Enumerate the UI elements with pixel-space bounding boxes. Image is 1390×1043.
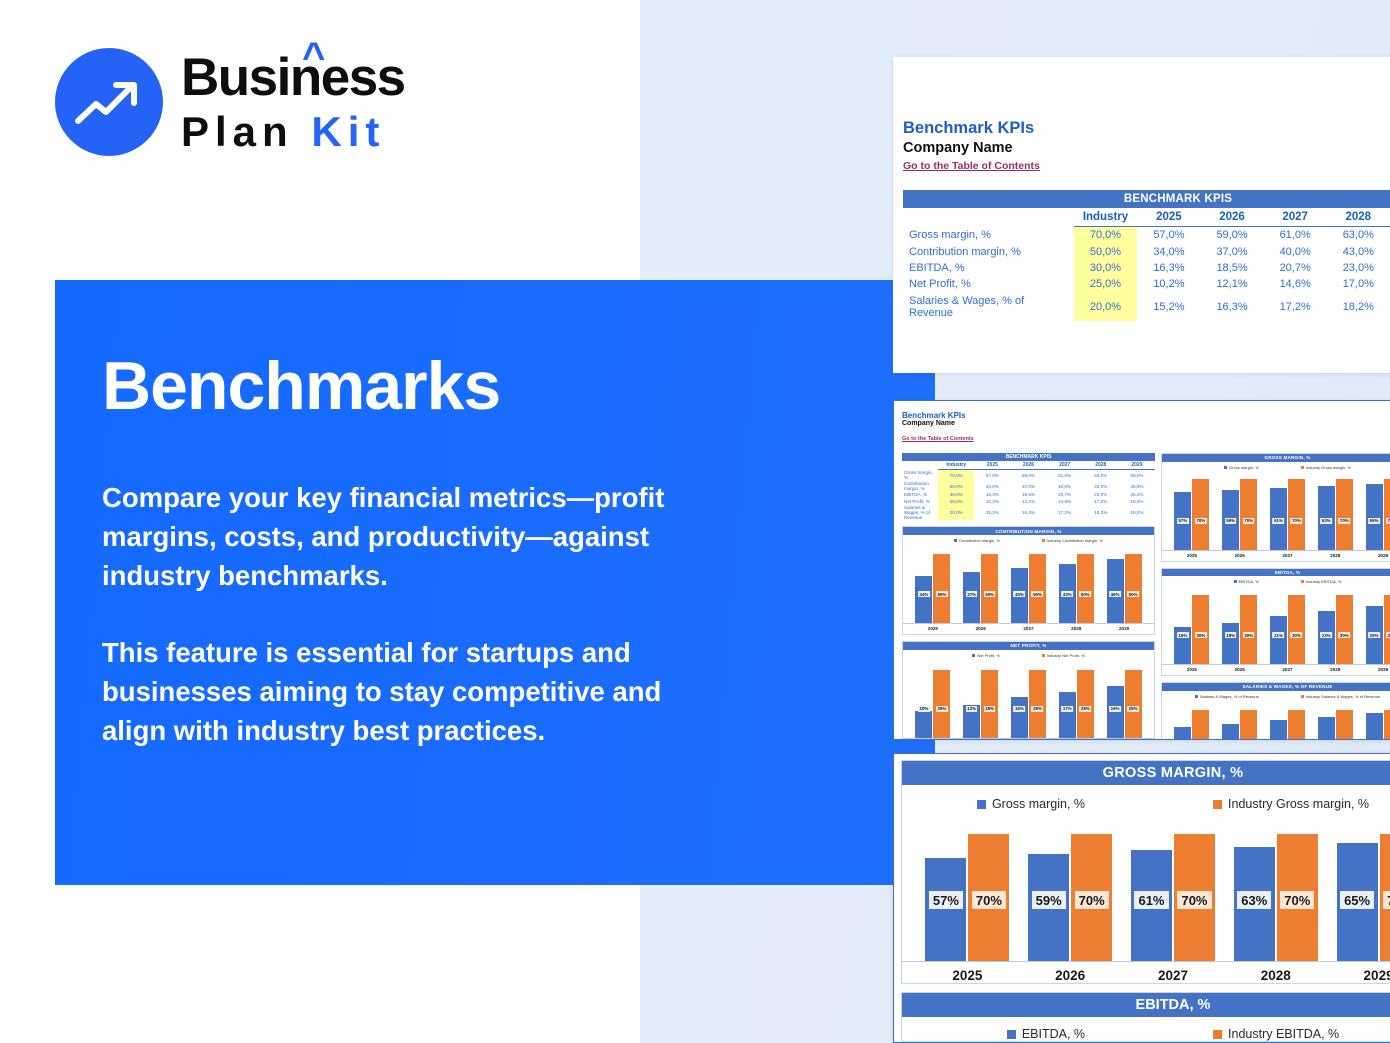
chart-bar-group: 37%50% (960, 554, 1002, 623)
brand-word-business: Business (181, 48, 405, 107)
chart-bar: 10% (915, 711, 932, 738)
table-cell: 18,2% (1327, 293, 1390, 321)
chart-bar-value-label: 25% (1079, 706, 1091, 712)
legend-label: EBITDA, % (1022, 1027, 1085, 1041)
chart-legend: EBITDA, %Industry EBITDA, % (902, 1027, 1390, 1041)
legend-item: Industry EBITDA, % (1213, 1027, 1339, 1041)
table-row: Salaries & Wages, % of Revenue20,0%15,2%… (902, 504, 1155, 520)
chart-bar: 20% (1336, 710, 1353, 740)
chart-bar-group: 19%25% (1103, 670, 1145, 738)
legend-label: Industry Salaries & Wages, % of Revenue (1306, 694, 1380, 699)
chart-bar-group: 65%70% (1362, 479, 1390, 550)
chart-bar-group: 16%20% (1219, 710, 1261, 740)
table-row-label: Gross margin, % (902, 470, 938, 481)
chart-bar: 37% (963, 572, 980, 623)
legend-swatch-icon (1007, 1030, 1016, 1039)
legend-item: Gross margin, % (1224, 465, 1259, 470)
table-cell-industry: 50,0% (938, 481, 974, 492)
table-cell: 57,0% (974, 470, 1010, 481)
table-cell: 61,0% (1047, 470, 1083, 481)
chart-gross-margin: GROSS MARGIN, %Gross margin, %Industry G… (901, 760, 1390, 984)
chart-title: GROSS MARGIN, % (1162, 454, 1390, 462)
chart-bar: 70% (1071, 834, 1112, 961)
chart-bar-group: 16%30% (1171, 595, 1213, 664)
table-column-header: 2026 (1010, 461, 1046, 470)
chart-bar-value-label: 63% (1237, 891, 1271, 909)
chart-bar: 30% (1240, 595, 1257, 664)
chart-bar-value-label: 25% (936, 706, 948, 712)
table-cell: 59,0% (1200, 227, 1263, 244)
chart-bar-value-label: 50% (984, 591, 996, 597)
chart-bar: 57% (925, 858, 966, 961)
chart-x-axis: 20252026202720282029 (902, 961, 1390, 983)
table-of-contents-link[interactable]: Go to the Table of Contents (903, 160, 1040, 172)
chart-contribution-margin: CONTRIBUTION MARGIN, %Contribution margi… (902, 526, 1155, 635)
chart-plot-area: 57%70%59%70%61%70%63%70%65%70% (902, 811, 1390, 961)
chart-bar: 12% (963, 705, 980, 738)
mini-benchmark-kpi-table: BENCHMARK KPISIndustry202520262027202820… (902, 453, 1155, 520)
chart-salaries-wages: SALARIES & WAGES, % OF REVENUESalaries &… (1161, 682, 1390, 740)
table-cell: 57,0% (1137, 227, 1200, 244)
legend-item: Industry Salaries & Wages, % of Revenue (1301, 694, 1380, 699)
legend-label: Industry EBITDA, % (1306, 579, 1342, 584)
chart-bar-value-label: 70% (1338, 518, 1350, 524)
table-cell: 16,3% (1137, 260, 1200, 276)
chart-bar-value-label: 50% (936, 591, 948, 597)
table-band-label: BENCHMARK KPIS (903, 190, 1390, 208)
table-row: Net Profit, %25,0%10,2%12,1%14,6%17,0%19… (903, 276, 1390, 292)
x-axis-tick-label: 2025 (1171, 667, 1213, 672)
chart-bar: 70% (1384, 479, 1390, 550)
table-row-label: Salaries & Wages, % of Revenue (903, 293, 1074, 321)
chart-bar-value-label: 43% (1061, 591, 1073, 597)
chart-bar-value-label: 50% (1079, 591, 1091, 597)
table-cell: 18,2% (1083, 504, 1119, 520)
legend-swatch-icon (1224, 466, 1227, 469)
legend-swatch-icon (1042, 539, 1045, 542)
x-axis-tick-label: 2027 (1007, 626, 1049, 631)
legend-label: Industry Net Profit, % (1047, 653, 1085, 658)
chart-bar-group: 15%25% (1007, 670, 1049, 738)
table-cell: 18,5% (1200, 260, 1263, 276)
chart-bar: 18% (1222, 623, 1239, 664)
x-axis-tick-label: 2026 (1219, 667, 1261, 672)
chart-bar-value-label: 61% (1134, 891, 1168, 909)
table-cell-industry: 50,0% (1074, 243, 1138, 259)
chart-bar: 30% (1336, 595, 1353, 664)
legend-label: Net Profit, % (977, 653, 999, 658)
chart-bar: 50% (981, 554, 998, 623)
brand-name-line2: Plan Kit (181, 111, 405, 153)
chart-bar-value-label: 65% (1340, 891, 1374, 909)
legend-label: Gross margin, % (1229, 465, 1259, 470)
x-axis-tick-label: 2028 (1314, 667, 1356, 672)
chart-bar: 25% (1077, 670, 1094, 738)
chart-bar-group: 23%30% (1314, 595, 1356, 664)
chart-bar: 50% (1125, 554, 1142, 623)
table-row: Contribution margin, %50,0%34,0%37,0%40,… (902, 481, 1155, 492)
chart-bar-value-label: 16% (1177, 632, 1189, 638)
table-cell-industry: 30,0% (1074, 260, 1138, 276)
chart-bar-value-label: 34% (918, 591, 930, 597)
chart-bar-group: 43%50% (1055, 554, 1097, 623)
chart-bar-group: 15%20% (1171, 710, 1213, 740)
table-row: Contribution margin, %50,0%34,0%37,0%40,… (903, 243, 1390, 259)
chart-bar: 46% (1107, 559, 1124, 623)
chart-bar: 23% (1318, 611, 1335, 664)
table-column-header: 2027 (1264, 208, 1327, 227)
chart-title: CONTRIBUTION MARGIN, % (903, 527, 1154, 535)
legend-label: EBITDA, % (1239, 579, 1259, 584)
chart-plot-area: 10%25%12%25%15%25%17%25%19%25% (903, 658, 1154, 738)
chart-bar-value-label: 70% (1383, 891, 1390, 909)
chart-bar: 16% (1222, 724, 1239, 740)
mini-sheet-company-name: Company Name (902, 420, 1390, 427)
chart-bar-value-label: 37% (966, 591, 978, 597)
legend-swatch-icon (1301, 466, 1304, 469)
chart-bar-group: 61%70% (1266, 479, 1308, 550)
chart-bar: 17% (1059, 692, 1076, 738)
chart-bar-value-label: 30% (1291, 632, 1303, 638)
chart-bar-group: 40%50% (1007, 554, 1049, 623)
table-cell: 34,0% (974, 481, 1010, 492)
chart-bar-group: 17%25% (1055, 670, 1097, 738)
table-row-label: Contribution margin, % (902, 481, 938, 492)
chart-bar-group: 59%70% (1020, 834, 1120, 961)
sheet-company-name: Company Name (903, 140, 1390, 156)
chart-bar: 61% (1270, 488, 1287, 550)
chart-bar-group: 25%30% (1362, 595, 1390, 664)
chart-bar: 20% (1288, 710, 1305, 740)
table-column-header: 2028 (1083, 461, 1119, 470)
chart-bar: 65% (1366, 484, 1383, 550)
table-cell: 43,0% (1083, 481, 1119, 492)
chart-x-axis: 20252026202720282029 (1162, 550, 1390, 561)
chart-bar: 18% (1318, 717, 1335, 740)
chart-bar-value-label: 70% (1243, 518, 1255, 524)
chart-bar-group: 21%30% (1266, 595, 1308, 664)
legend-item: EBITDA, % (1234, 579, 1259, 584)
table-header-row: Industry20252026202720282029 (902, 461, 1155, 470)
chart-bar-value-label: 70% (972, 891, 1006, 909)
brand-word-plan: Plan (181, 108, 311, 155)
chart-title: SALARIES & WAGES, % OF REVENUE (1162, 683, 1390, 691)
chart-bar: 30% (1288, 595, 1305, 664)
chart-bar-group: 17%20% (1266, 710, 1308, 740)
spreadsheet-card-large-chart: GROSS MARGIN, %Gross margin, %Industry G… (893, 753, 1390, 1043)
page-title: Benchmarks (102, 352, 935, 420)
table-column-header: Industry (938, 461, 974, 470)
chart-bar-value-label: 19% (1109, 706, 1121, 712)
chart-bar: 65% (1337, 843, 1378, 961)
chart-bar-group: 10%25% (912, 670, 954, 738)
chart-bar-group: 65%70% (1329, 834, 1390, 961)
table-cell: 59,0% (1010, 470, 1046, 481)
legend-item: Industry Gross margin, % (1213, 797, 1369, 811)
table-cell: 63,0% (1327, 227, 1390, 244)
chart-bar-value-label: 50% (1127, 591, 1139, 597)
chart-gross-margin: GROSS MARGIN, %Gross margin, %Industry G… (1161, 453, 1390, 562)
chart-plot-area: 16%30%18%30%21%30%23%30%25%30% (1162, 584, 1390, 664)
chart-bar: 15% (1011, 697, 1028, 738)
table-column-header: 2027 (1047, 461, 1083, 470)
legend-swatch-icon (1301, 580, 1304, 583)
table-header-row: Industry20252026202720282029 (903, 208, 1390, 227)
chart-bar-value-label: 17% (1061, 706, 1073, 712)
chart-bar-group: 59%70% (1219, 479, 1261, 550)
table-cell: 37,0% (1200, 243, 1263, 259)
chart-bar: 19% (1107, 686, 1124, 738)
chart-bar-value-label: 59% (1225, 518, 1237, 524)
legend-label: Contribution margin, % (959, 538, 1000, 543)
legend-item: EBITDA, % (1007, 1027, 1085, 1041)
chart-bar-value-label: 40% (1014, 591, 1026, 597)
chart-bar-value-label: 50% (1032, 591, 1044, 597)
chart-ebitda: EBITDA, %EBITDA, %Industry EBITDA, %16%3… (1161, 568, 1390, 677)
x-axis-tick-label: 2028 (1314, 553, 1356, 558)
table-cell: 10,2% (1137, 276, 1200, 292)
table-row-label: Net Profit, % (903, 276, 1074, 292)
table-column-header: 2026 (1200, 208, 1263, 227)
legend-item: Gross margin, % (977, 797, 1085, 811)
table-cell: 63,0% (1083, 470, 1119, 481)
table-cell: 15,2% (1137, 293, 1200, 321)
chart-bar: 30% (1192, 595, 1209, 664)
chart-bar: 43% (1059, 564, 1076, 623)
chart-plot-area: 15%20%16%20%17%20%18%20%19%20% (1162, 699, 1390, 740)
chart-bar-value-label: 25% (1127, 706, 1139, 712)
table-column-header: 2025 (974, 461, 1010, 470)
table-cell: 19,0% (1119, 504, 1155, 520)
table-cell-industry: 20,0% (1074, 293, 1138, 321)
chart-bar-value-label: 57% (929, 891, 963, 909)
chart-bar: 50% (1029, 554, 1046, 623)
chart-bar-value-label: 61% (1273, 518, 1285, 524)
chart-bar: 59% (1028, 854, 1069, 961)
table-row: EBITDA, %30,0%16,3%18,5%20,7%23,0%25,2% (903, 260, 1390, 276)
legend-item: Contribution margin, % (954, 538, 1000, 543)
table-cell: 43,0% (1327, 243, 1390, 259)
table-cell: 23,0% (1327, 260, 1390, 276)
table-cell: 15,2% (974, 504, 1010, 520)
legend-swatch-icon (1213, 800, 1222, 809)
chart-x-axis: 20252026202720282029 (903, 738, 1154, 740)
brand-logo: Business ^ Plan Kit (55, 48, 405, 156)
x-axis-tick-label: 2025 (912, 626, 954, 631)
chart-x-axis: 20252026202720282029 (903, 623, 1154, 634)
table-band-label: BENCHMARK KPIS (902, 453, 1155, 461)
chart-bar: 61% (1131, 850, 1172, 961)
x-axis-tick-label: 2025 (1171, 553, 1213, 558)
chart-legend: Gross margin, %Industry Gross margin, % (902, 797, 1390, 811)
legend-swatch-icon (1234, 580, 1237, 583)
chart-bar-value-label: 30% (1338, 632, 1350, 638)
legend-swatch-icon (1195, 695, 1198, 698)
brand-name-line1: Business ^ (181, 51, 405, 104)
x-axis-tick-label: 2027 (1123, 968, 1223, 983)
brand-circumflex-icon: ^ (302, 37, 324, 77)
legend-item: Industry Gross margin, % (1301, 465, 1351, 470)
chart-bar: 25% (1125, 670, 1142, 738)
chart-bar-value-label: 15% (1014, 706, 1026, 712)
chart-bar-value-label: 25% (1368, 632, 1380, 638)
table-cell: 16,3% (1200, 293, 1263, 321)
chart-bar-group: 34%50% (912, 554, 954, 623)
table-cell: 17,2% (1264, 293, 1327, 321)
chart-bar: 25% (1366, 606, 1383, 664)
table-cell: 34,0% (1137, 243, 1200, 259)
chart-bar: 70% (1380, 834, 1390, 961)
x-axis-tick-label: 2028 (1055, 626, 1097, 631)
table-band: BENCHMARK KPIS (902, 453, 1155, 461)
chart-bar-value-label: 70% (1280, 891, 1314, 909)
chart-bar-value-label: 30% (1243, 632, 1255, 638)
table-cell-industry: 20,0% (938, 504, 974, 520)
chart-bar-value-label: 70% (1195, 518, 1207, 524)
chart-bar-value-label: 12% (966, 706, 978, 712)
hero-panel: Benchmarks Compare your key financial me… (55, 280, 935, 885)
table-cell-industry: 25,0% (1074, 276, 1138, 292)
chart-bar-value-label: 18% (1225, 632, 1237, 638)
table-band: BENCHMARK KPIS (903, 190, 1390, 208)
chart-bar-value-label: 25% (1032, 706, 1044, 712)
chart-bar: 70% (1336, 479, 1353, 550)
chart-bar-value-label: 59% (1032, 891, 1066, 909)
legend-item: Net Profit, % (972, 653, 999, 658)
table-row-label: Salaries & Wages, % of Revenue (902, 504, 938, 520)
table-cell-industry: 70,0% (938, 470, 974, 481)
x-axis-tick-label: 2025 (917, 968, 1017, 983)
spreadsheet-card-dashboard: Benchmark KPIs Company Name Go to the Ta… (893, 400, 1390, 740)
chart-bar-value-label: 57% (1177, 518, 1189, 524)
chart-title: NET PROFIT, % (903, 642, 1154, 650)
x-axis-tick-label: 2026 (960, 626, 1002, 631)
table-cell: 40,0% (1047, 481, 1083, 492)
chart-bar: 57% (1174, 492, 1191, 550)
table-cell: 20,7% (1264, 260, 1327, 276)
chart-bar: 30% (1384, 595, 1390, 664)
chart-bar: 70% (1288, 479, 1305, 550)
brand-word-kit: Kit (311, 108, 385, 155)
table-cell: 17,0% (1327, 276, 1390, 292)
table-column-header: Industry (1074, 208, 1138, 227)
chart-bar: 25% (981, 670, 998, 738)
chart-bar: 59% (1222, 490, 1239, 550)
sheet-title: Benchmark KPIs (903, 119, 1390, 138)
trend-up-arrow-icon (55, 48, 163, 156)
table-row-label: Gross margin, % (903, 227, 1074, 244)
chart-ebitda-header: EBITDA, %EBITDA, %Industry EBITDA, % (901, 992, 1390, 1042)
table-column-header: 2028 (1327, 208, 1390, 227)
chart-bar-group: 61%70% (1123, 834, 1223, 961)
table-cell: 46,0% (1119, 481, 1155, 492)
chart-bar-value-label: 21% (1273, 632, 1285, 638)
legend-swatch-icon (954, 539, 957, 542)
chart-bar-value-label: 70% (1386, 518, 1390, 524)
legend-label: Industry Contribution margin, % (1047, 538, 1103, 543)
table-row: Salaries & Wages, % of Revenue20,0%15,2%… (903, 293, 1390, 321)
chart-bar-value-label: 46% (1109, 591, 1121, 597)
table-cell: 12,1% (1200, 276, 1263, 292)
chart-bar: 19% (1366, 713, 1383, 740)
table-column-header (902, 461, 938, 470)
table-row-label: EBITDA, % (903, 260, 1074, 276)
chart-bar: 70% (1277, 834, 1318, 961)
chart-bar-value-label: 30% (1386, 632, 1390, 638)
chart-bar-value-label: 63% (1320, 518, 1332, 524)
chart-title: EBITDA, % (902, 993, 1390, 1017)
table-cell-industry: 70,0% (1074, 227, 1138, 244)
chart-bar-value-label: 70% (1177, 891, 1211, 909)
table-row: Gross margin, %70,0%57,0%59,0%61,0%63,0%… (902, 470, 1155, 481)
legend-label: Industry EBITDA, % (1228, 1027, 1339, 1041)
x-axis-tick-label: 2028 (1226, 968, 1326, 983)
table-row-label: Contribution margin, % (903, 243, 1074, 259)
chart-bar-group: 18%30% (1219, 595, 1261, 664)
legend-item: Industry Contribution margin, % (1042, 538, 1103, 543)
chart-title: GROSS MARGIN, % (902, 761, 1390, 785)
table-cell: 17,2% (1047, 504, 1083, 520)
chart-bar: 15% (1174, 727, 1191, 740)
legend-item: Industry EBITDA, % (1301, 579, 1342, 584)
chart-bar: 40% (1011, 568, 1028, 623)
chart-bar: 70% (968, 834, 1009, 961)
x-axis-tick-label: 2026 (1020, 968, 1120, 983)
chart-net-profit: NET PROFIT, %Net Profit, %Industry Net P… (902, 641, 1155, 740)
chart-bar-group: 57%70% (917, 834, 1017, 961)
chart-bar: 70% (1240, 479, 1257, 550)
chart-bar-value-label: 30% (1195, 632, 1207, 638)
table-column-header: 2029 (1119, 461, 1155, 470)
legend-item: Salaries & Wages, % of Revenue (1195, 694, 1259, 699)
table-cell: 37,0% (1010, 481, 1046, 492)
legend-label: Industry Gross margin, % (1228, 797, 1369, 811)
x-axis-tick-label: 2027 (1266, 667, 1308, 672)
hero-paragraph-1: Compare your key financial metrics—profi… (102, 478, 727, 595)
mini-table-of-contents-link[interactable]: Go to the Table of Contents (902, 436, 974, 442)
legend-label: Gross margin, % (992, 797, 1085, 811)
chart-bar-value-label: 70% (1291, 518, 1303, 524)
chart-bar: 20% (1384, 710, 1390, 740)
chart-bar-group: 63%70% (1314, 479, 1356, 550)
legend-swatch-icon (972, 654, 975, 657)
chart-bar: 20% (1240, 710, 1257, 740)
table-column-header (903, 208, 1074, 227)
chart-bar-group: 57%70% (1171, 479, 1213, 550)
chart-bar: 70% (1192, 479, 1209, 550)
table-cell: 14,6% (1264, 276, 1327, 292)
chart-x-axis: 20252026202720282029 (1162, 664, 1390, 675)
table-cell: 61,0% (1264, 227, 1327, 244)
hero-paragraph-2: This feature is essential for startups a… (102, 633, 727, 750)
table-cell: 16,3% (1010, 504, 1046, 520)
chart-bar: 50% (933, 554, 950, 623)
chart-bar: 17% (1270, 720, 1287, 740)
x-axis-tick-label: 2026 (1219, 553, 1261, 558)
legend-label: Industry Gross margin, % (1306, 465, 1351, 470)
legend-swatch-icon (1213, 1030, 1222, 1039)
chart-bar: 25% (933, 670, 950, 738)
chart-bar: 63% (1234, 847, 1275, 961)
legend-swatch-icon (1301, 695, 1304, 698)
legend-label: Salaries & Wages, % of Revenue (1200, 694, 1259, 699)
table-column-header: 2025 (1137, 208, 1200, 227)
chart-bar: 21% (1270, 616, 1287, 664)
benchmark-kpi-table: BENCHMARK KPISIndustry202520262027202820… (903, 190, 1390, 321)
chart-bar-value-label: 25% (984, 706, 996, 712)
legend-item: Industry Net Profit, % (1042, 653, 1085, 658)
chart-plot-area: 34%50%37%50%40%50%43%50%46%50% (903, 543, 1154, 623)
